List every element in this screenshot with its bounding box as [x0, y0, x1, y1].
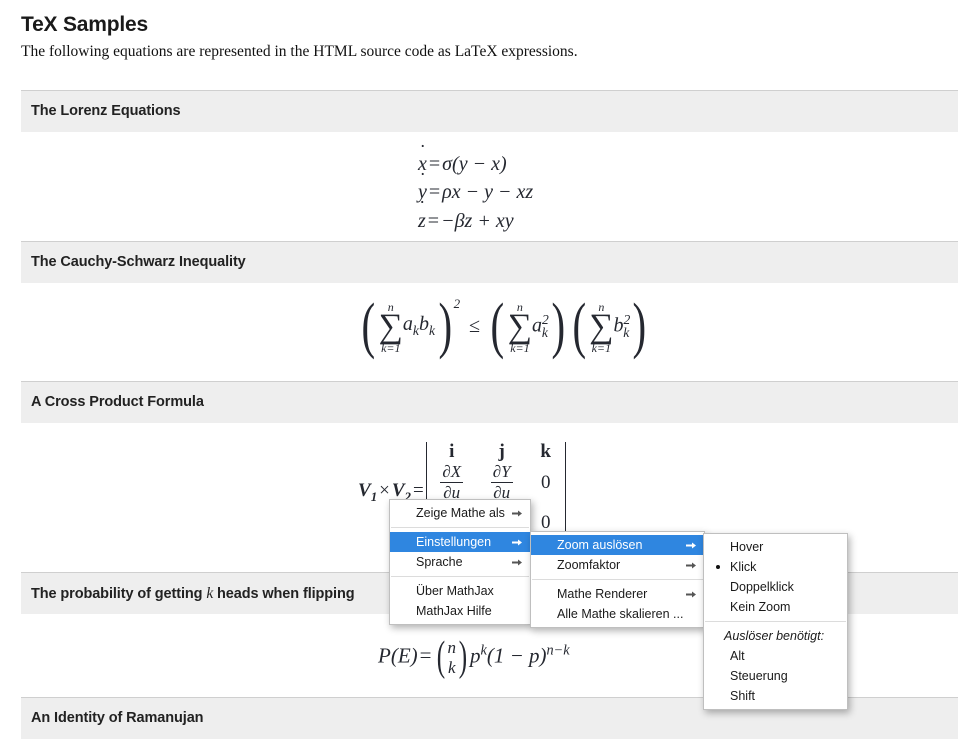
- cross-equals: =: [411, 480, 426, 501]
- determinant-row-header: ijk: [427, 440, 565, 463]
- lorenz-eq-3: =: [426, 210, 441, 232]
- menu-item-mathe-renderer[interactable]: Mathe Renderer: [531, 584, 704, 604]
- menu-item-label: MathJax Hilfe: [416, 604, 492, 618]
- menu-item-kein-zoom[interactable]: Kein Zoom: [704, 597, 847, 617]
- paren-close-3: ): [633, 301, 647, 352]
- term-a: a: [532, 315, 542, 337]
- paren-open-3: (: [572, 301, 586, 352]
- heading-prefix: The probability of getting: [31, 586, 206, 602]
- binomial-p: p: [470, 643, 481, 667]
- zero-entry: 0: [527, 472, 565, 494]
- cross-lhs-v2: V2: [392, 480, 411, 501]
- equation-lorenz[interactable]: x=σ(y − x) y=ρx − y − xz z=−βz + xy: [418, 150, 533, 235]
- binom-bottom: k: [448, 658, 457, 678]
- section-heading-text: The Cauchy-Schwarz Inequality: [21, 242, 958, 270]
- frac-numerator: ∂Y: [491, 463, 513, 482]
- menu-item-alle-mathe-skalieren[interactable]: Alle Mathe skalieren ...: [531, 604, 704, 624]
- basis-j: j: [477, 441, 527, 463]
- equation-cauchy-schwarz[interactable]: (n∑k=1akbk)2≤(n∑k=1a2k)(n∑k=1b2k): [358, 300, 650, 353]
- menu-item-alt[interactable]: Alt: [704, 646, 847, 666]
- lorenz-rhs-3: −βz + xy: [441, 210, 514, 232]
- menu-item-label: Kein Zoom: [730, 600, 790, 614]
- determinant-row-u: ∂X∂u∂Y∂u0: [427, 463, 565, 503]
- section-header-lorenz: The Lorenz Equations: [21, 90, 958, 132]
- submenu-arrow-icon: [685, 562, 696, 569]
- determinant-bar-right: [565, 442, 566, 542]
- cauchy-term-a2: a2k: [532, 312, 548, 341]
- submenu-arrow-icon: [511, 539, 522, 546]
- menu-separator: [391, 527, 529, 528]
- vector-v2: V: [392, 480, 405, 501]
- paren-open-binom: (: [436, 640, 444, 676]
- menu-item-einstellungen[interactable]: Einstellungen: [390, 532, 530, 552]
- radio-selected-icon: [716, 565, 720, 569]
- cross-lhs-v1: V1: [358, 480, 377, 501]
- menu-item-label: Alt: [730, 649, 745, 663]
- term-a: a: [403, 313, 413, 335]
- submenu-arrow-icon: [511, 510, 522, 517]
- lorenz-eq-2: =: [427, 181, 442, 203]
- frac-numerator: ∂X: [440, 463, 463, 482]
- term-a-sub: k: [542, 325, 548, 340]
- page-title: TeX Samples: [0, 0, 980, 37]
- term-b-sub: k: [623, 325, 629, 340]
- menu-item-label: Über MathJax: [416, 584, 494, 598]
- page-subtitle: The following equations are represented …: [0, 37, 980, 61]
- menu-item-ueber-mathjax[interactable]: Über MathJax: [390, 581, 530, 601]
- menu-item-klick[interactable]: Klick: [704, 557, 847, 577]
- term-b-sub: k: [429, 323, 435, 338]
- lorenz-line-1: x=σ(y − x): [418, 150, 533, 178]
- section-header-cauchy: The Cauchy-Schwarz Inequality: [21, 241, 958, 283]
- cross-times-operator: ×: [377, 480, 392, 501]
- paren-close-2: ): [551, 301, 565, 352]
- binomial-rest: (1 − p): [487, 643, 547, 667]
- menu-item-label: Zoom auslösen: [557, 538, 642, 552]
- sigma-icon: ∑: [589, 313, 613, 342]
- partial-y-u: ∂Y∂u: [477, 463, 527, 503]
- binomial-rest-exponent: n−k: [547, 642, 570, 658]
- submenu-arrow-icon: [685, 542, 696, 549]
- menu-item-steuerung[interactable]: Steuerung: [704, 666, 847, 686]
- vector-v1: V: [358, 480, 371, 501]
- binomial-lhs: P(E): [378, 643, 418, 667]
- paren-close-binom: ): [459, 640, 467, 676]
- menu-item-label: Shift: [730, 689, 755, 703]
- sigma-icon: ∑: [379, 313, 403, 342]
- paren-open-2: (: [491, 301, 505, 352]
- menu-separator: [532, 579, 703, 580]
- lorenz-line-2: y=ρx − y − xz: [418, 178, 533, 206]
- lorenz-line-3: z=−βz + xy: [418, 207, 533, 235]
- menu-separator: [391, 576, 529, 577]
- menu-item-zoom-ausloesen[interactable]: Zoom auslösen: [531, 535, 704, 555]
- context-menu-level-2[interactable]: Zoom auslösen Zoomfaktor Mathe Renderer …: [530, 531, 705, 628]
- relation-leq: ≤: [462, 315, 487, 338]
- paren-open-1: (: [362, 301, 376, 352]
- heading-suffix: heads when flipping: [213, 586, 354, 602]
- section-header-cross-product: A Cross Product Formula: [21, 381, 958, 423]
- equation-binomial[interactable]: P(E)=(nk)pk(1 − p)n−k: [378, 638, 570, 677]
- menu-item-label: Zoomfaktor: [557, 558, 620, 572]
- binomial-equals: =: [418, 643, 434, 667]
- section-heading-text: The Lorenz Equations: [21, 91, 958, 119]
- menu-item-label: Einstellungen: [416, 535, 491, 549]
- paren-close-1: ): [439, 301, 453, 352]
- summation-1: n∑k=1: [379, 301, 403, 354]
- lorenz-eq-1: =: [427, 153, 442, 175]
- lorenz-rhs-2: ρx − y − xz: [442, 181, 533, 203]
- section-heading-text: A Cross Product Formula: [21, 382, 958, 410]
- basis-i: i: [427, 441, 477, 463]
- submenu-arrow-icon: [685, 591, 696, 598]
- binom-top: n: [448, 638, 457, 658]
- lorenz-lhs-3: z: [418, 207, 426, 235]
- context-menu-level-1[interactable]: Zeige Mathe als Einstellungen Sprache Üb…: [389, 499, 531, 625]
- menu-item-label: Doppelklick: [730, 580, 794, 594]
- menu-item-doppelklick[interactable]: Doppelklick: [704, 577, 847, 597]
- cauchy-exponent: 2: [454, 296, 461, 312]
- summation-3: n∑k=1: [589, 301, 613, 354]
- menu-separator: [705, 621, 846, 622]
- menu-item-mathjax-hilfe[interactable]: MathJax Hilfe: [390, 601, 530, 621]
- lorenz-rhs-1: σ(y − x): [442, 153, 506, 175]
- cauchy-term-b2: b2k: [613, 312, 629, 341]
- term-b: b: [419, 313, 429, 335]
- menu-item-shift[interactable]: Shift: [704, 686, 847, 706]
- menu-label-ausloeser-benoetigt: Auslöser benötigt:: [704, 626, 847, 646]
- menu-item-label: Mathe Renderer: [557, 587, 647, 601]
- menu-item-sprache[interactable]: Sprache: [390, 552, 530, 572]
- sum-lower-limit: k=1: [589, 342, 613, 354]
- menu-item-label: Zeige Mathe als: [416, 506, 505, 520]
- sigma-icon: ∑: [508, 313, 532, 342]
- basis-k: k: [527, 441, 565, 463]
- menu-item-label: Klick: [730, 560, 756, 574]
- menu-item-label: Hover: [730, 540, 763, 554]
- menu-item-zeige-mathe-als[interactable]: Zeige Mathe als: [390, 503, 530, 523]
- summation-2: n∑k=1: [508, 301, 532, 354]
- sum-lower-limit: k=1: [508, 342, 532, 354]
- submenu-arrow-icon: [511, 559, 522, 566]
- term-b: b: [613, 315, 623, 337]
- context-menu-level-3[interactable]: Hover Klick Doppelklick Kein Zoom Auslös…: [703, 533, 848, 710]
- menu-item-hover[interactable]: Hover: [704, 537, 847, 557]
- partial-x-u: ∂X∂u: [427, 463, 477, 503]
- menu-item-label: Sprache: [416, 555, 463, 569]
- cauchy-term-ab: akbk: [403, 313, 435, 339]
- menu-item-zoomfaktor[interactable]: Zoomfaktor: [531, 555, 704, 575]
- menu-item-label: Steuerung: [730, 669, 788, 683]
- sum-lower-limit: k=1: [379, 342, 403, 354]
- binomial-coefficient: nk: [448, 638, 457, 677]
- menu-item-label: Alle Mathe skalieren ...: [557, 607, 683, 621]
